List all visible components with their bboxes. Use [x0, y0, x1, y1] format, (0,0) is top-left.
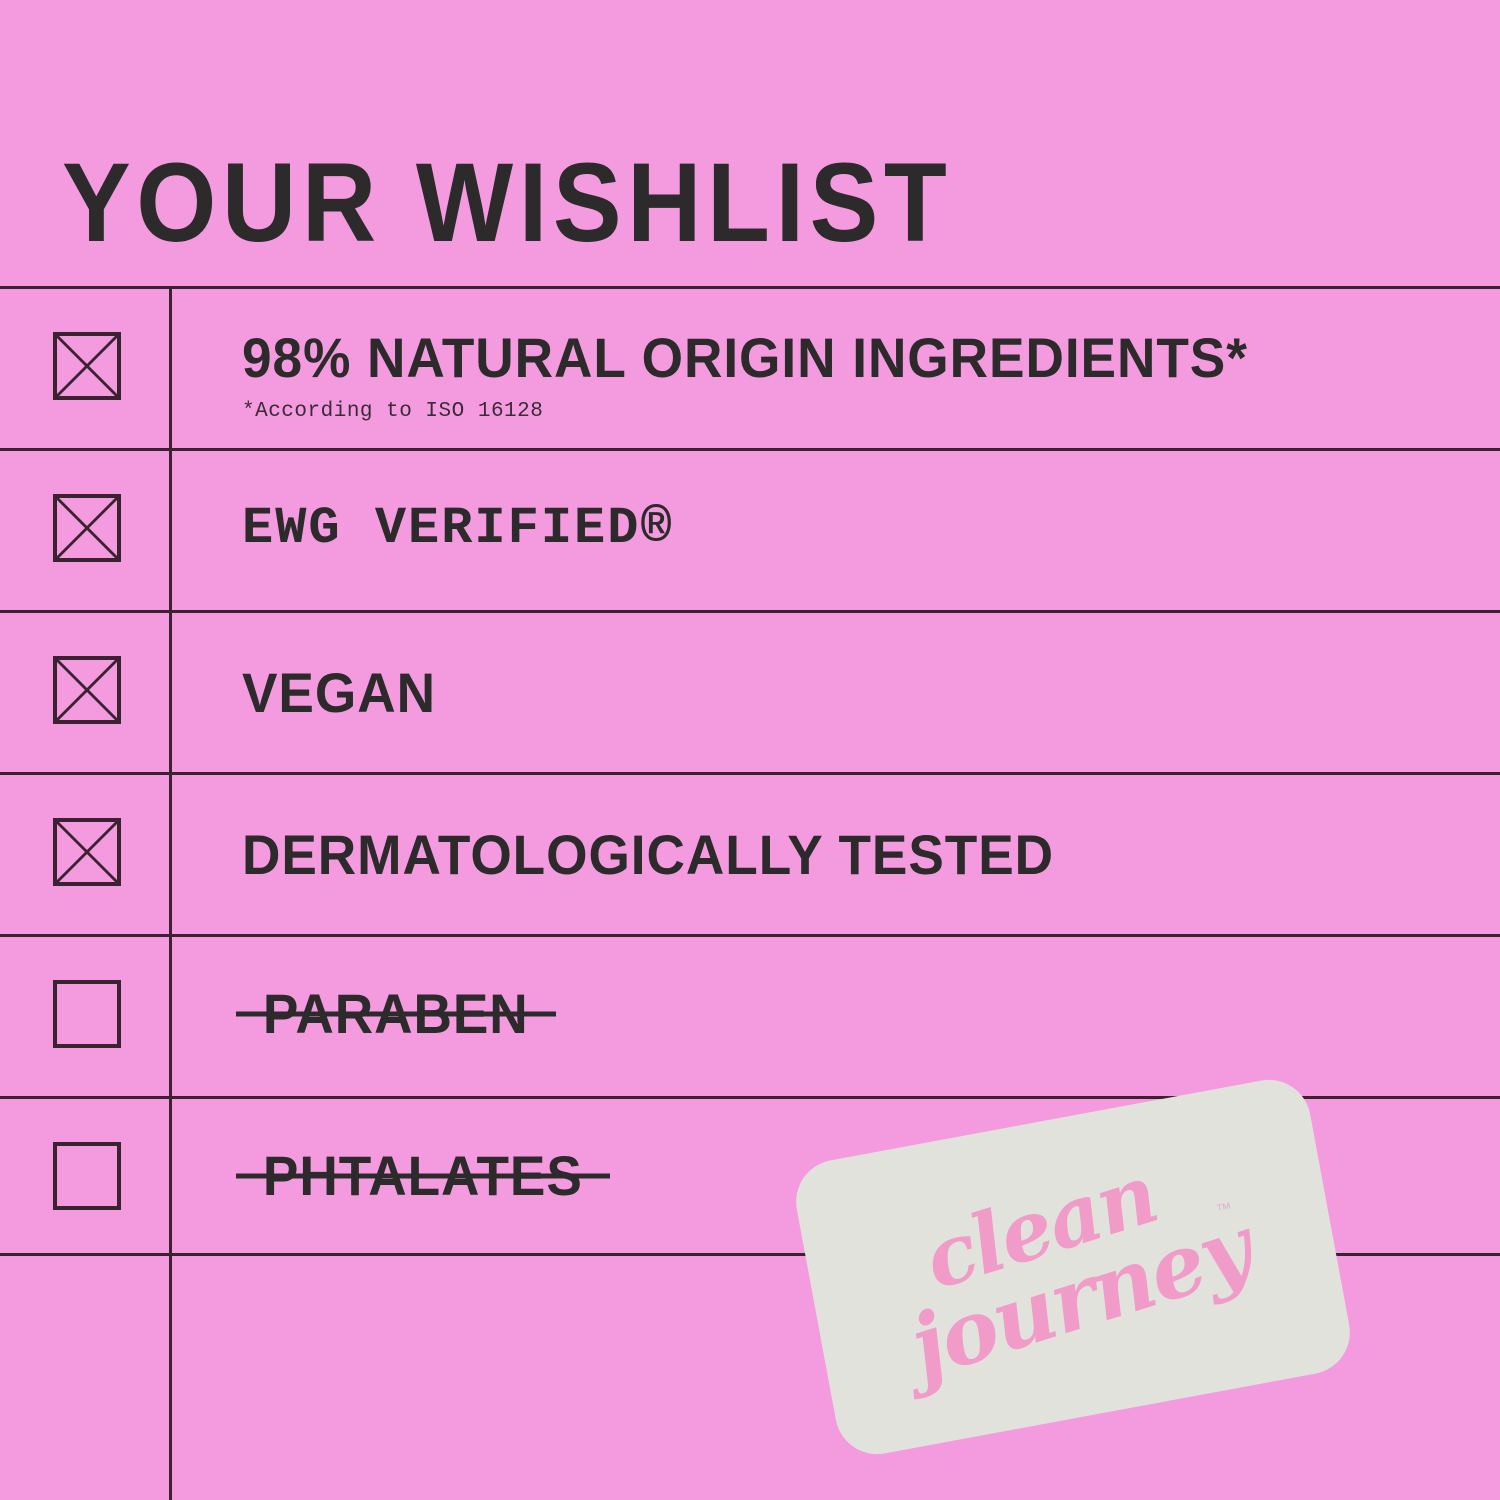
wishlist-card: YOUR WISHLIST 98% NATURAL ORIGIN INGREDI… [0, 0, 1500, 1500]
label-cell: PARABEN [172, 934, 1500, 1096]
checkbox-empty-icon[interactable] [53, 1142, 121, 1210]
checklist-row[interactable]: EWG VERIFIED® [0, 448, 1500, 610]
label-cell: VEGAN [172, 610, 1500, 772]
checkbox-crossed-icon[interactable] [53, 818, 121, 886]
checkbox-cell[interactable] [0, 448, 169, 610]
label-cell: DERMATOLOGICALLY TESTED [172, 772, 1500, 934]
checklist-label: EWG VERIFIED® [242, 503, 674, 555]
strikethrough-line [236, 1174, 610, 1179]
checkbox-cell[interactable] [0, 772, 169, 934]
checklist-label-struck: PARABEN [242, 986, 566, 1042]
checkbox-crossed-icon[interactable] [53, 494, 121, 562]
checklist-row[interactable]: PARABEN [0, 934, 1500, 1096]
checklist-row[interactable]: VEGAN [0, 610, 1500, 772]
page-title: YOUR WISHLIST [62, 147, 952, 259]
checkbox-crossed-icon[interactable] [53, 332, 121, 400]
label-cell: EWG VERIFIED® [172, 448, 1500, 610]
trademark-icon: ™ [1215, 1200, 1234, 1221]
checkbox-empty-icon[interactable] [53, 980, 121, 1048]
checkbox-crossed-icon[interactable] [53, 656, 121, 724]
checkbox-cell[interactable] [0, 1096, 169, 1258]
strikethrough-line [236, 1012, 556, 1017]
label-cell: 98% NATURAL ORIGIN INGREDIENTS* *Accordi… [172, 286, 1500, 448]
checkbox-cell[interactable] [0, 934, 169, 1096]
checkbox-cell[interactable] [0, 286, 169, 448]
checklist-label-struck: PHTALATES [242, 1148, 623, 1204]
checklist-label: VEGAN [242, 665, 436, 721]
checklist-footnote: *According to ISO 16128 [242, 400, 543, 423]
checklist-row[interactable]: 98% NATURAL ORIGIN INGREDIENTS* *Accordi… [0, 286, 1500, 448]
checklist-label: 98% NATURAL ORIGIN INGREDIENTS* [242, 330, 1248, 386]
checklist-row[interactable]: DERMATOLOGICALLY TESTED [0, 772, 1500, 934]
checkbox-cell[interactable] [0, 610, 169, 772]
checklist-label: DERMATOLOGICALLY TESTED [242, 827, 1054, 883]
